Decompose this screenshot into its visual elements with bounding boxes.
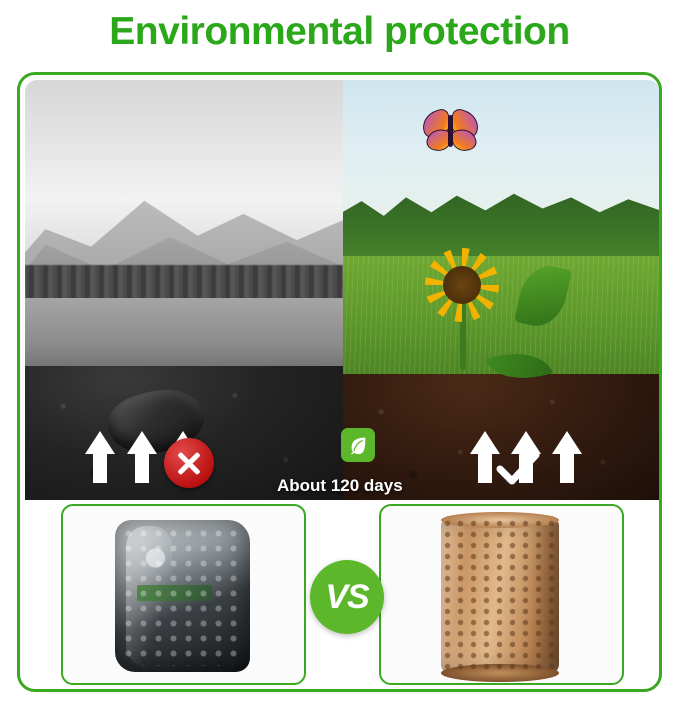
plastic-bubble-wrap-image <box>115 520 250 672</box>
honeycomb-paper-roll-image <box>441 518 559 674</box>
healthy-scene <box>343 80 661 500</box>
arrow-up-icon <box>127 431 157 483</box>
check-mark-icon <box>496 452 540 486</box>
product-comparison-row: VS <box>25 504 660 685</box>
grey-field <box>25 298 343 374</box>
plastic-product-panel <box>61 504 306 685</box>
degradation-time-label: About 120 days <box>277 476 403 496</box>
paper-product-panel <box>379 504 624 685</box>
page-title: Environmental protection <box>0 6 679 58</box>
vs-badge: VS <box>310 560 384 634</box>
comparison-photo: About 120 days <box>25 80 660 500</box>
sunflower-icon <box>425 248 499 322</box>
x-mark-icon <box>164 438 214 488</box>
arrow-up-icon <box>85 431 115 483</box>
polluted-scene <box>25 80 343 500</box>
butterfly-icon <box>422 109 480 157</box>
content-frame: About 120 days VS <box>17 72 662 692</box>
leaf-badge-icon <box>341 428 375 462</box>
arrow-up-icon <box>552 431 582 483</box>
arrow-up-icon <box>470 431 500 483</box>
